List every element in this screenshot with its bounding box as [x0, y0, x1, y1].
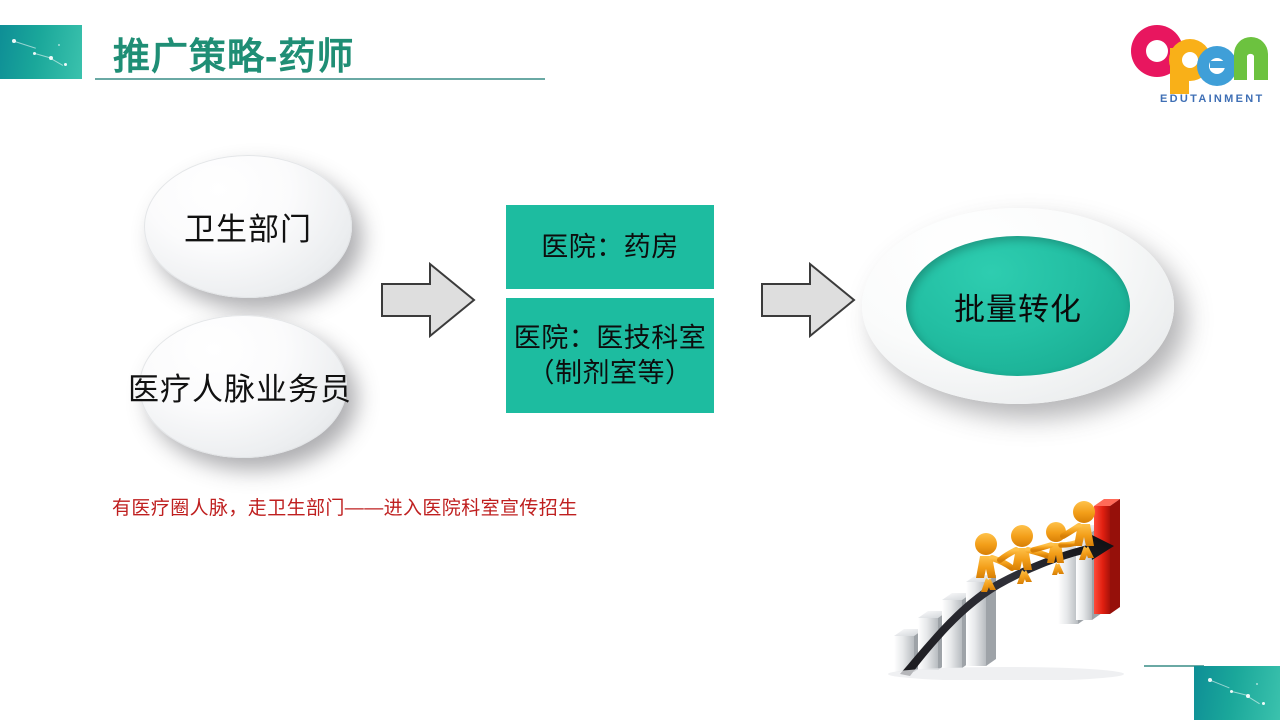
source-oval-health-department-label: 卫生部门 — [184, 204, 312, 249]
right-arrow-icon-2 — [760, 262, 856, 338]
target-oval-label: 批量转化 — [954, 284, 1082, 329]
figure-2 — [1000, 525, 1048, 584]
target-oval-core: 批量转化 — [906, 236, 1130, 376]
constellation-decoration-bottom-right — [1194, 666, 1280, 720]
source-oval-medical-network-sales: 医疗人脉业务员 — [139, 315, 347, 458]
arrow-shape — [380, 262, 476, 338]
source-oval-health-department: 卫生部门 — [144, 155, 352, 298]
arrow-shape — [760, 262, 856, 338]
channel-box-hospital-medtech: 医院：医技科室（制剂室等） — [506, 298, 714, 413]
logo-tagline: EDUTAINMENT — [1160, 93, 1265, 105]
logo-letter-p-counter — [1182, 52, 1198, 68]
constellation-decoration-top-left — [0, 25, 82, 79]
star-dot — [1262, 702, 1265, 705]
logo-letter-e-bar — [1210, 61, 1232, 68]
logo-letter-n — [1234, 37, 1268, 80]
people-climbing-bar-chart-illustration — [866, 484, 1156, 680]
target-oval-bulk-conversion: 批量转化 — [862, 208, 1174, 404]
open-edutainment-logo: EDUTAINMENT — [1124, 18, 1274, 110]
right-arrow-icon-1 — [380, 262, 476, 338]
gradient-fill — [0, 25, 82, 79]
red-bar — [1094, 499, 1120, 614]
channel-box-hospital-medtech-label: 医院：医技科室（制剂室等） — [506, 321, 714, 390]
title-underline — [95, 78, 545, 80]
logo-letter-o-inner — [1146, 40, 1168, 62]
red-caption-note: 有医疗圈人脉，走卫生部门——进入医院科室宣传招生 — [112, 493, 578, 520]
illustration-graphic — [866, 484, 1156, 680]
source-oval-medical-network-sales-label: 医疗人脉业务员 — [128, 364, 352, 409]
channel-box-hospital-pharmacy: 医院：药房 — [506, 205, 714, 289]
star-dot — [1256, 683, 1258, 685]
slide-canvas: 推广策略-药师 EDUTAINMENT 卫生部门 医疗人脉业务员 — [0, 0, 1280, 720]
star-dot — [58, 44, 60, 46]
star-dot — [64, 63, 67, 66]
page-title: 推广策略-药师 — [113, 26, 354, 80]
channel-box-hospital-pharmacy-label: 医院：药房 — [541, 230, 679, 265]
